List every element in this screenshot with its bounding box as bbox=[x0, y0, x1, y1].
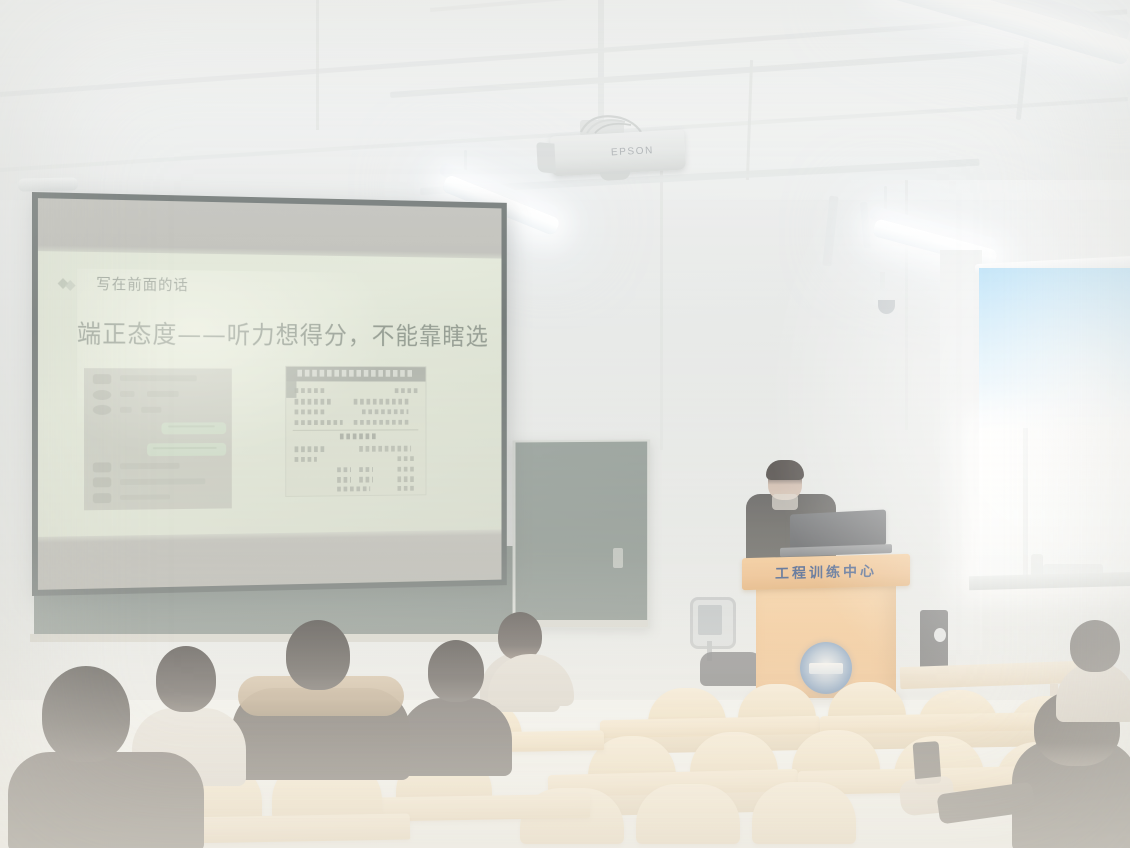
podium-sign-text: 工程训练中心 bbox=[762, 560, 890, 583]
stand-panel bbox=[698, 605, 722, 635]
chat-text-line bbox=[120, 407, 132, 413]
wall-seam bbox=[316, 0, 319, 130]
slide-title-text: 端正态度——听力想得分，不能靠瞎选 bbox=[77, 314, 489, 352]
report-row-value bbox=[353, 399, 411, 404]
report-row bbox=[286, 388, 425, 393]
report-row bbox=[286, 446, 425, 452]
report-row-label bbox=[295, 399, 332, 404]
report-row bbox=[286, 399, 425, 404]
chat-avatar bbox=[93, 405, 111, 415]
report-row-label bbox=[359, 467, 373, 472]
bubble-text-line bbox=[153, 447, 216, 449]
chat-text-line bbox=[120, 376, 197, 382]
person-body bbox=[400, 698, 512, 776]
projection-screen: 写在前面的话 端正态度——听力想得分，不能靠瞎选 bbox=[32, 192, 507, 596]
report-row-label bbox=[337, 477, 351, 482]
report-row-value bbox=[398, 466, 414, 471]
report-row bbox=[286, 485, 425, 492]
person-body bbox=[488, 654, 574, 706]
window-glass bbox=[979, 428, 1130, 580]
chat-text-line bbox=[147, 391, 179, 397]
person-head bbox=[1070, 620, 1120, 672]
report-row bbox=[286, 466, 425, 472]
report-row-label bbox=[295, 447, 326, 452]
report-row bbox=[286, 419, 425, 425]
projector-cables bbox=[575, 112, 645, 134]
chat-text-line bbox=[141, 407, 162, 413]
presenter-hair bbox=[766, 460, 804, 480]
chat-avatar bbox=[93, 390, 111, 400]
diamond-bullet-icon bbox=[57, 274, 79, 296]
podium-body bbox=[756, 586, 896, 698]
person-holding-phone bbox=[1012, 700, 1130, 848]
projector-lens-housing bbox=[536, 142, 556, 174]
report-row-label bbox=[295, 420, 343, 425]
av-equipment-stand bbox=[690, 597, 730, 659]
report-row-value bbox=[362, 409, 409, 414]
report-row-label bbox=[295, 410, 326, 415]
slide-image-score-report bbox=[285, 366, 426, 497]
chat-avatar bbox=[93, 462, 111, 472]
report-header-title bbox=[297, 370, 414, 377]
classroom-photo: EPSON 写在前面的话 端正态度——听力想得分，不能靠瞎选 bbox=[0, 0, 1130, 848]
slide-kicker-text: 写在前面的话 bbox=[96, 273, 188, 295]
window-mullion bbox=[1023, 428, 1028, 578]
chat-avatar bbox=[93, 374, 111, 384]
report-row bbox=[286, 456, 425, 462]
blackboard bbox=[513, 439, 651, 628]
chat-text-line bbox=[120, 463, 179, 469]
seat-back bbox=[752, 782, 856, 844]
report-row bbox=[286, 409, 425, 414]
report-row bbox=[286, 476, 425, 483]
report-row-value bbox=[398, 456, 414, 461]
projector-mount-pole bbox=[598, 0, 604, 128]
podium: 工程训练中心 bbox=[756, 556, 896, 696]
projection-screen-surface: 写在前面的话 端正态度——听力想得分，不能靠瞎选 bbox=[38, 198, 502, 590]
projector-brand-label: EPSON bbox=[611, 145, 655, 158]
chat-text-line bbox=[120, 478, 205, 484]
report-row-label bbox=[295, 457, 318, 462]
audience-member bbox=[8, 666, 198, 848]
wall-seam bbox=[660, 150, 663, 450]
projector: EPSON bbox=[550, 130, 686, 177]
report-row-value bbox=[398, 485, 414, 490]
report-row-value bbox=[395, 388, 417, 393]
dome-security-camera-icon bbox=[873, 288, 899, 304]
report-row-label bbox=[295, 388, 326, 393]
audience-member-hoodie bbox=[478, 614, 574, 700]
report-divider bbox=[293, 430, 418, 431]
report-row-label bbox=[359, 477, 373, 482]
report-header-bar bbox=[286, 367, 425, 381]
person-head bbox=[42, 666, 130, 762]
chat-text-line bbox=[120, 391, 135, 397]
person-head bbox=[428, 640, 484, 702]
chat-text-line bbox=[120, 494, 170, 500]
presenter-collar bbox=[772, 494, 798, 510]
report-row-value bbox=[359, 446, 411, 451]
report-row-value bbox=[353, 420, 408, 425]
slide-image-chat-screenshot bbox=[84, 368, 232, 510]
blackboard-eraser[interactable] bbox=[613, 548, 623, 568]
report-row-label bbox=[337, 467, 351, 472]
report-subtitle bbox=[340, 434, 376, 439]
chat-avatar bbox=[93, 478, 111, 488]
microphone-icon bbox=[934, 628, 946, 642]
equipment-bag bbox=[700, 652, 764, 686]
chat-message-bubble bbox=[162, 422, 226, 435]
person-head bbox=[286, 620, 350, 690]
presentation-slide: 写在前面的话 端正态度——听力想得分，不能靠瞎选 bbox=[38, 251, 502, 537]
projection-screen-roller[interactable] bbox=[18, 177, 78, 191]
report-row-label bbox=[337, 486, 370, 491]
chat-avatar bbox=[93, 493, 111, 503]
audience-member-fur-hood bbox=[232, 618, 408, 778]
chat-message-bubble bbox=[147, 443, 226, 456]
person-body bbox=[8, 752, 204, 848]
window bbox=[975, 268, 1130, 628]
podium-sign-panel: 工程训练中心 bbox=[742, 554, 910, 590]
report-row-value bbox=[398, 477, 414, 482]
bubble-text-line bbox=[168, 426, 214, 428]
audience-member bbox=[1056, 620, 1130, 716]
window-blind[interactable] bbox=[979, 268, 1130, 434]
seat-back bbox=[636, 784, 740, 844]
